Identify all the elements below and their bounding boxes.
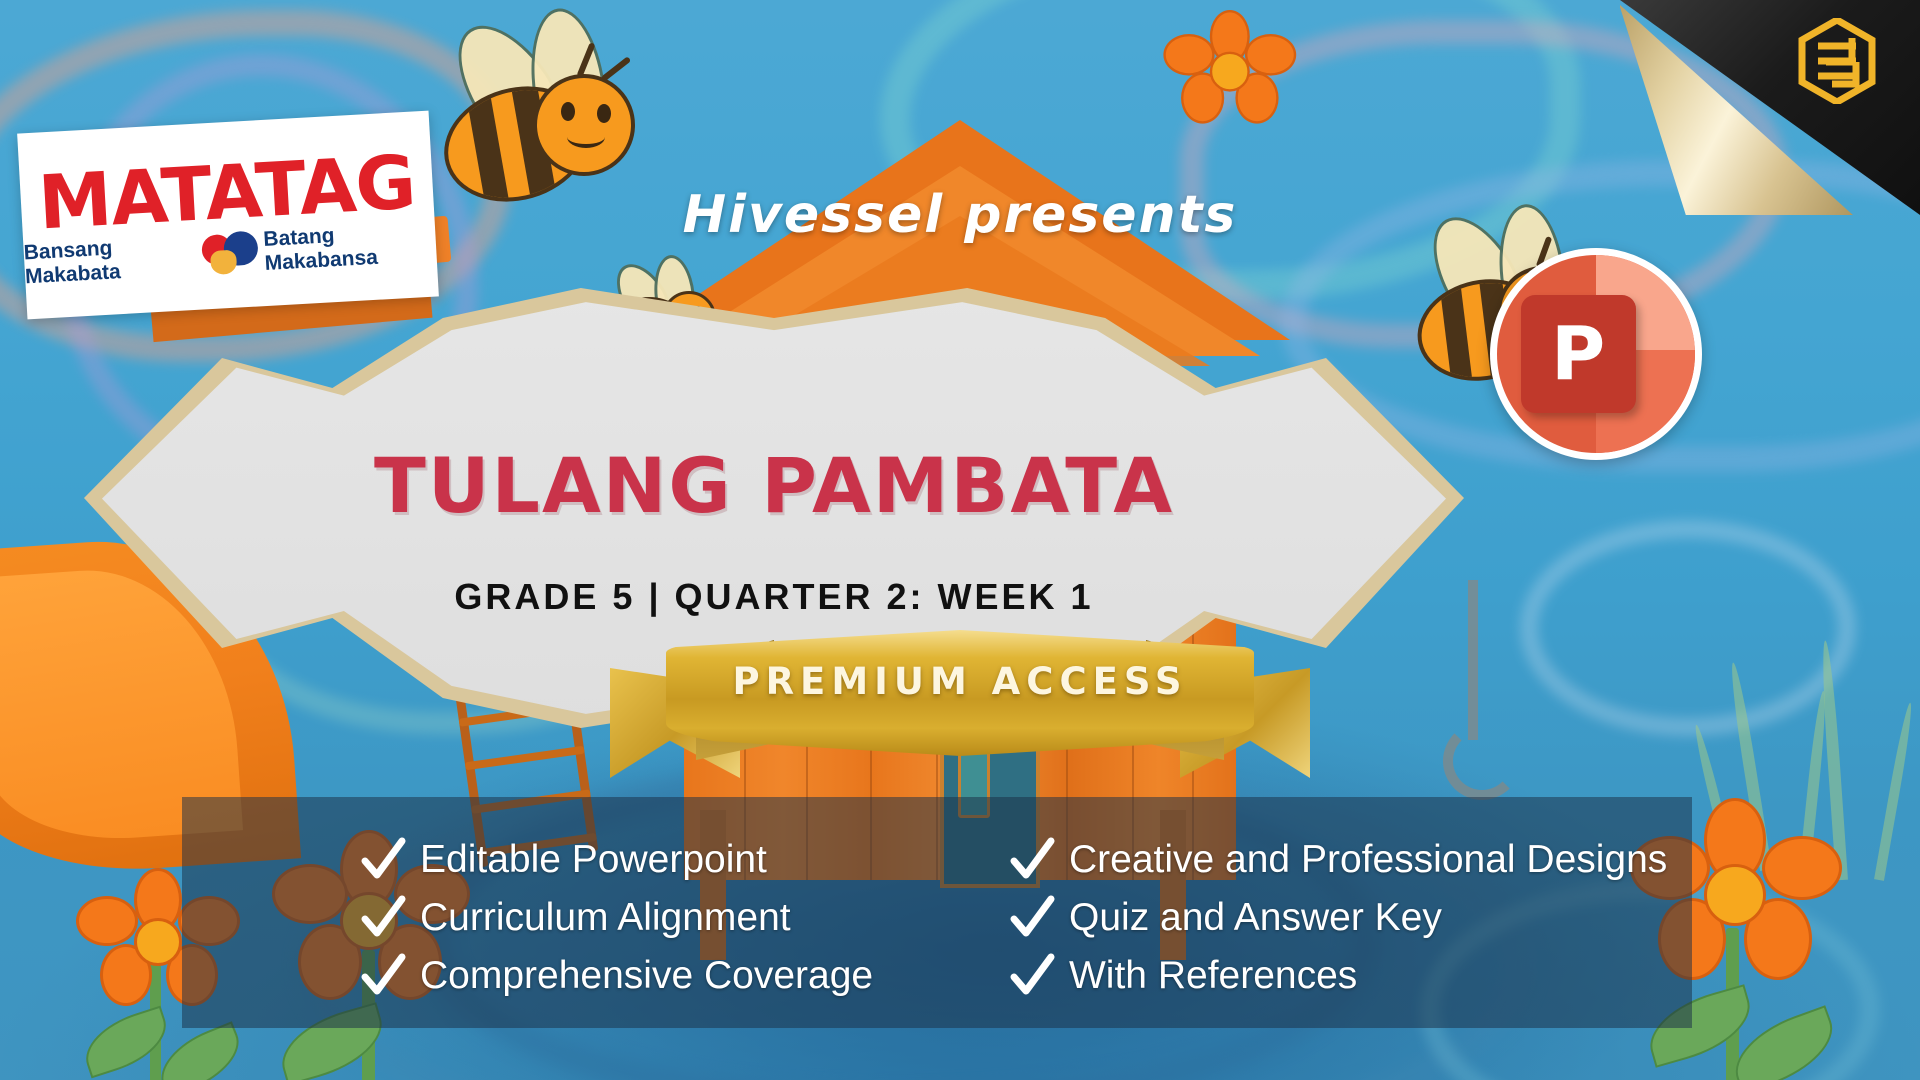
page-title: TULANG PAMBATA [84, 448, 1464, 524]
hexagon-hive-logo-icon [1798, 18, 1876, 104]
powerpoint-icon: P [1490, 248, 1702, 460]
check-mark-icon [360, 895, 406, 941]
check-mark-icon [1009, 837, 1055, 883]
features-right-column: Creative and Professional Designs Quiz a… [937, 837, 1692, 999]
rope-hook-icon [1468, 580, 1478, 740]
features-panel: Editable Powerpoint Curriculum Alignment… [182, 797, 1692, 1028]
feature-label: With References [1069, 954, 1357, 998]
list-item: Comprehensive Coverage [360, 953, 937, 999]
list-item: Quiz and Answer Key [1009, 895, 1692, 941]
slide-canvas: Hivessel presents TULANG PAMBATA GRADE 5… [0, 0, 1920, 1080]
feature-label: Comprehensive Coverage [420, 954, 873, 998]
feature-label: Creative and Professional Designs [1069, 838, 1667, 882]
clasped-hands-icon [201, 231, 259, 278]
matatag-tagline-right: Batang Makabansa [263, 219, 437, 277]
background-swirl [1520, 520, 1856, 736]
feature-label: Editable Powerpoint [420, 838, 767, 882]
features-left-column: Editable Powerpoint Curriculum Alignment… [182, 837, 937, 999]
check-mark-icon [1009, 953, 1055, 999]
check-mark-icon [360, 953, 406, 999]
matatag-tagline-left: Bansang Makabata [23, 232, 197, 290]
feature-label: Quiz and Answer Key [1069, 896, 1442, 940]
page-subtitle: GRADE 5 | QUARTER 2: WEEK 1 [84, 576, 1464, 618]
list-item: Creative and Professional Designs [1009, 837, 1692, 883]
check-mark-icon [1009, 895, 1055, 941]
check-mark-icon [360, 837, 406, 883]
premium-access-label: PREMIUM ACCESS [610, 660, 1310, 703]
list-item: Editable Powerpoint [360, 837, 937, 883]
powerpoint-letter: P [1551, 317, 1605, 391]
premium-access-ribbon: PREMIUM ACCESS [610, 630, 1310, 810]
matatag-logo-card: MATATAG Bansang Makabata Batang Makabans… [17, 111, 439, 320]
bee-icon [415, 8, 635, 208]
list-item: With References [1009, 953, 1692, 999]
feature-label: Curriculum Alignment [420, 896, 791, 940]
list-item: Curriculum Alignment [360, 895, 937, 941]
